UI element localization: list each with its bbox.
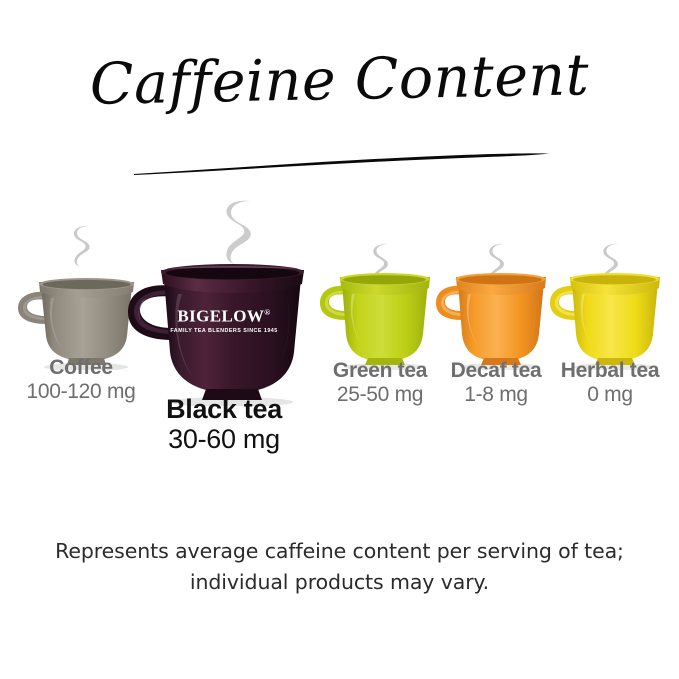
footnote: Represents average caffeine content per …	[50, 536, 629, 598]
cup-amount-green-tea: 25-50 mg	[318, 383, 442, 407]
cup-name-black-tea: Black tea	[126, 394, 322, 424]
cup-labels-green-tea: Green tea 25-50 mg	[318, 359, 442, 406]
footnote-line-2: individual products may vary.	[50, 567, 629, 598]
page-title: Caffeine Content	[0, 37, 679, 122]
cup-visual-green-tea	[318, 196, 442, 346]
footnote-line-1: Represents average caffeine content per …	[50, 536, 629, 567]
cup-row: Coffee 100-120 mg	[0, 196, 679, 476]
cup-visual-herbal-tea	[548, 196, 672, 346]
cup-amount-herbal-tea: 0 mg	[548, 383, 672, 407]
title-block: Caffeine Content	[0, 44, 679, 154]
steam-icon	[221, 198, 261, 264]
cup-visual-black-tea: BIGELOW® FAMILY TEA BLENDERS SINCE 1945	[126, 196, 322, 386]
cup-labels-black-tea: Black tea 30-60 mg	[126, 394, 322, 454]
cup-item-herbal-tea[interactable]: Herbal tea 0 mg	[548, 196, 672, 346]
steam-icon	[70, 224, 96, 268]
cup-name-herbal-tea: Herbal tea	[548, 359, 672, 383]
cup-item-decaf-tea[interactable]: Decaf tea 1-8 mg	[434, 196, 558, 346]
cup-labels-herbal-tea: Herbal tea 0 mg	[548, 359, 672, 406]
cup-graphic-green-tea	[318, 268, 442, 370]
cup-labels-decaf-tea: Decaf tea 1-8 mg	[434, 359, 558, 406]
cup-name-green-tea: Green tea	[318, 359, 442, 383]
cup-graphic-decaf-tea	[434, 268, 558, 370]
cup-visual-decaf-tea	[434, 196, 558, 346]
cup-name-decaf-tea: Decaf tea	[434, 359, 558, 383]
cup-graphic-herbal-tea	[548, 268, 672, 370]
cup-item-black-tea[interactable]: BIGELOW® FAMILY TEA BLENDERS SINCE 1945 …	[126, 196, 322, 386]
cup-item-green-tea[interactable]: Green tea 25-50 mg	[318, 196, 442, 346]
cup-amount-decaf-tea: 1-8 mg	[434, 383, 558, 407]
title-underline-swoosh	[132, 148, 552, 178]
cup-amount-black-tea: 30-60 mg	[126, 424, 322, 454]
cup-graphic-black-tea	[126, 260, 322, 406]
